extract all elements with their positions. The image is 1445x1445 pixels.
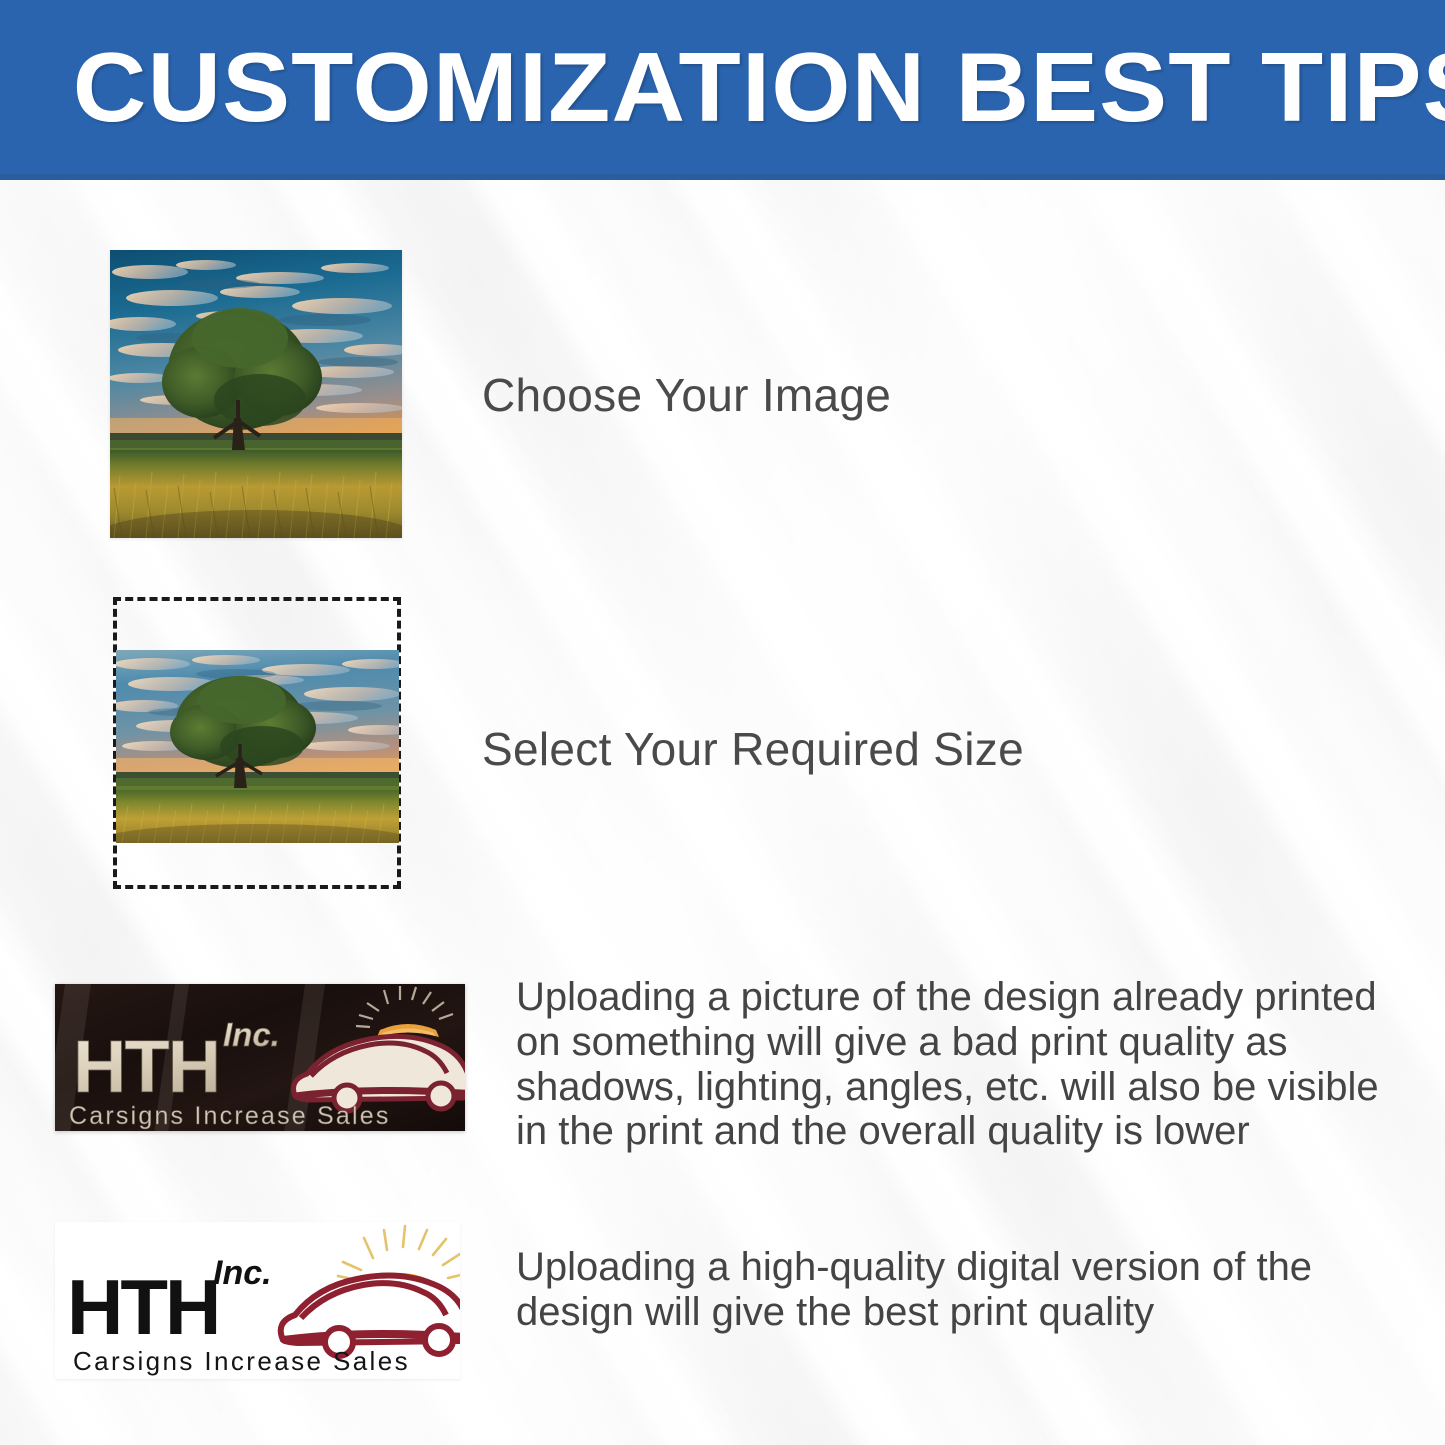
step-text-best-print-quality: Uploading a high-quality digital version… bbox=[516, 1245, 1396, 1335]
thumbnail-choose-image[interactable] bbox=[110, 250, 402, 538]
tree-sunset-photo-cropped bbox=[116, 650, 399, 843]
step-2-text: Select Your Required Size bbox=[482, 722, 1024, 776]
svg-text:Inc.: Inc. bbox=[213, 1254, 272, 1292]
svg-text:HTH: HTH bbox=[67, 1263, 218, 1351]
header-bar: CUSTOMIZATION BEST TIPS bbox=[0, 0, 1445, 180]
step-label-select-size: Select Your Required Size bbox=[482, 722, 1024, 776]
infographic-page: CUSTOMIZATION BEST TIPS bbox=[0, 0, 1445, 1445]
svg-text:Carsigns Increase Sales: Carsigns Increase Sales bbox=[73, 1346, 410, 1376]
thumbnail-printed-banner-photo[interactable]: Inc. HTH bbox=[55, 984, 465, 1131]
hth-logo-on-banner: Inc. HTH bbox=[55, 984, 465, 1131]
step-1-text: Choose Your Image bbox=[482, 368, 891, 422]
tree-sunset-photo bbox=[110, 250, 402, 538]
step-text-bad-print-quality: Uploading a picture of the design alread… bbox=[516, 975, 1416, 1154]
thumbnail-digital-logo[interactable]: Inc. HTH Carsigns Increase Sales bbox=[55, 1222, 460, 1379]
hth-logo-digital: Inc. HTH Carsigns Increase Sales bbox=[55, 1222, 460, 1379]
page-title: CUSTOMIZATION BEST TIPS bbox=[0, 38, 1445, 136]
step-label-choose-image: Choose Your Image bbox=[482, 368, 891, 422]
thumbnail-select-size[interactable] bbox=[116, 650, 399, 843]
